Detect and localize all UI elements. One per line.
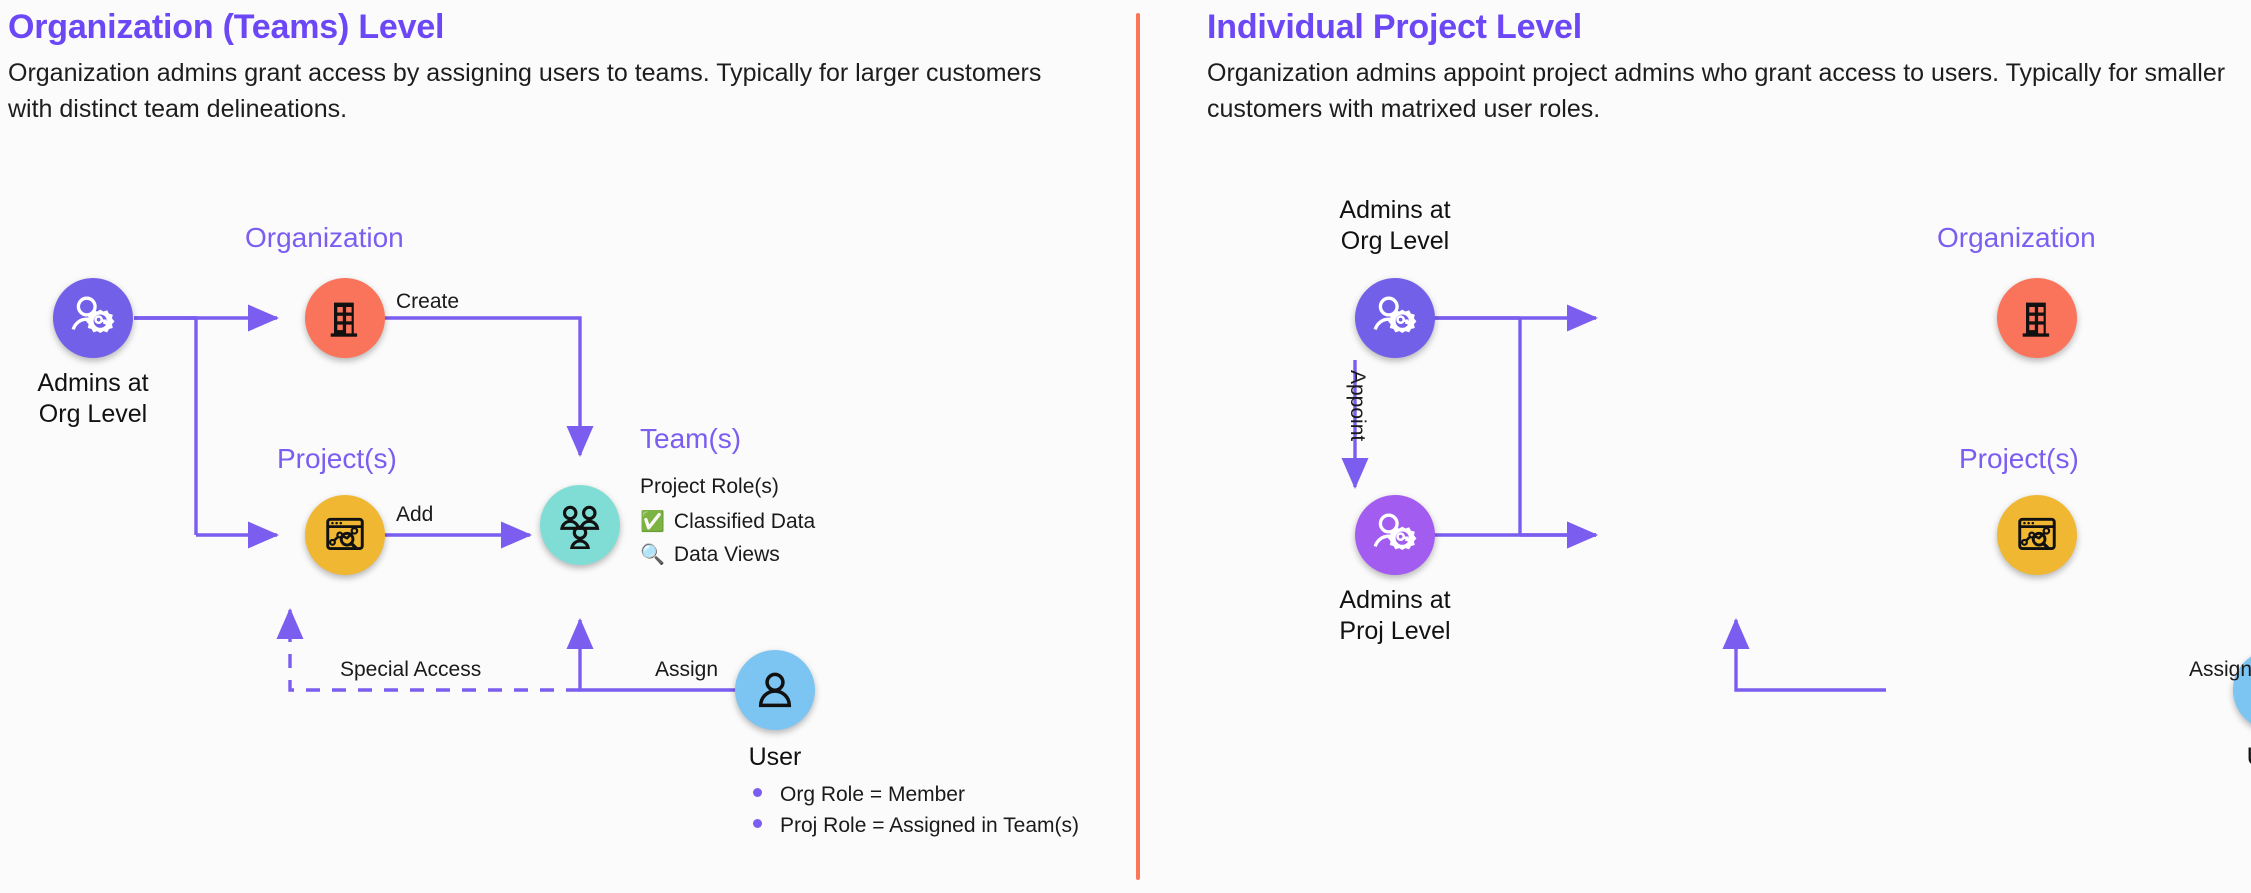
- edge-label-appoint: Appoint: [1345, 370, 1369, 441]
- label-organization: Organization: [245, 222, 404, 254]
- role-label: Classified Data: [674, 510, 815, 534]
- right-panel-title: Individual Project Level: [1207, 8, 1582, 47]
- label-user-right: User: [2213, 742, 2251, 773]
- node-admins-org-level-right[interactable]: [1355, 278, 1435, 358]
- people-group-icon: [556, 501, 604, 549]
- project-roles-heading-left: Project Role(s): [640, 475, 779, 499]
- dashboard-analytics-icon: [2014, 512, 2060, 558]
- organization-teams-panel: Organization (Teams) Level Organization …: [0, 0, 1137, 893]
- edge-label-assign-left: Assign: [655, 658, 718, 682]
- node-projects-right[interactable]: [1997, 495, 2077, 575]
- node-user-left[interactable]: [735, 650, 815, 730]
- edge-label-special-access: Special Access: [340, 658, 481, 682]
- bullet-dot-icon: [753, 788, 762, 797]
- label-organization-right: Organization: [1937, 222, 2096, 254]
- label-teams: Team(s): [640, 423, 741, 455]
- edge-label-assign-right: Assign: [2189, 658, 2251, 682]
- individual-project-panel: Individual Project Level Organization ad…: [1137, 0, 2251, 893]
- label-admins-org-level: Admins at Org Level: [0, 368, 193, 430]
- user-bullets-left: Org Role = Member Proj Role = Assigned i…: [753, 783, 1079, 845]
- role-item-data-views-left: 🔍 Data Views: [640, 543, 780, 567]
- magnifier-icon: 🔍: [640, 545, 665, 565]
- check-box-icon: ✅: [640, 512, 665, 532]
- admin-gear-user-icon: [1370, 293, 1420, 343]
- label-admins-org-level-right: Admins at Org Level: [1305, 195, 1485, 257]
- bullet-text: Org Role = Member: [780, 783, 965, 807]
- node-teams[interactable]: [540, 485, 620, 565]
- admin-gear-user-icon: [68, 293, 118, 343]
- person-icon: [753, 668, 797, 712]
- edge-label-add: Add: [396, 503, 433, 527]
- building-icon: [2015, 296, 2059, 340]
- label-user-left: User: [715, 742, 835, 773]
- label-admins-proj-level: Admins at Proj Level: [1305, 585, 1485, 647]
- bullet-text: Proj Role = Assigned in Team(s): [780, 814, 1079, 838]
- left-panel-title: Organization (Teams) Level: [8, 8, 444, 47]
- node-organization-right[interactable]: [1997, 278, 2077, 358]
- node-organization[interactable]: [305, 278, 385, 358]
- bullet-dot-icon: [753, 819, 762, 828]
- list-item: Org Role = Member: [753, 783, 1079, 807]
- node-projects[interactable]: [305, 495, 385, 575]
- list-item: Proj Role = Assigned in Team(s): [753, 814, 1079, 838]
- node-admins-org-level[interactable]: [53, 278, 133, 358]
- edge-label-create: Create: [396, 290, 459, 314]
- dashboard-analytics-icon: [322, 512, 368, 558]
- role-label: Data Views: [674, 543, 780, 567]
- label-projects-right: Project(s): [1959, 443, 2079, 475]
- role-item-classified-data-left: ✅ Classified Data: [640, 510, 815, 534]
- admin-gear-user-icon: [1370, 510, 1420, 560]
- label-projects: Project(s): [277, 443, 397, 475]
- building-icon: [323, 296, 367, 340]
- left-panel-description: Organization admins grant access by assi…: [8, 56, 1068, 127]
- right-panel-description: Organization admins appoint project admi…: [1207, 56, 2237, 127]
- node-admins-proj-level[interactable]: [1355, 495, 1435, 575]
